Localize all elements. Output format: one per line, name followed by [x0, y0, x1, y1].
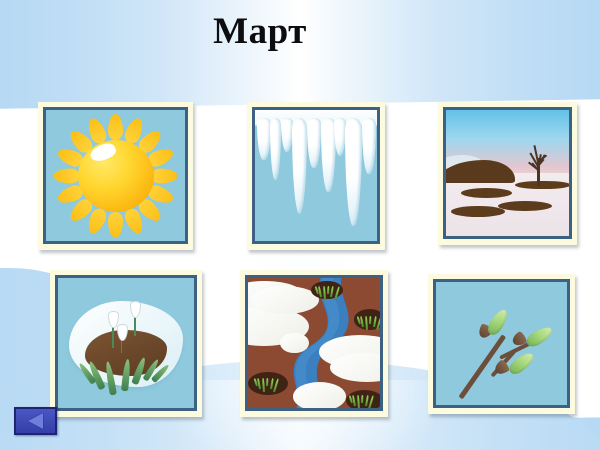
picture-frame-snowdrops[interactable]	[50, 270, 202, 417]
picture-canvas-icicles	[252, 107, 380, 244]
picture-canvas-snowdrops	[55, 275, 197, 411]
grass-blade	[323, 286, 326, 300]
artwork-icicles	[255, 110, 377, 241]
stream-snow-patch	[293, 382, 346, 408]
thaw-bare-tree-icon	[512, 140, 564, 185]
picture-canvas-thaw	[443, 107, 572, 239]
picture-frame-stream[interactable]	[240, 270, 388, 417]
page-title: Март	[0, 10, 520, 53]
picture-frame-sun[interactable]	[38, 102, 193, 250]
thaw-soil-patch	[451, 206, 505, 217]
picture-canvas-buds	[433, 279, 570, 408]
back-button[interactable]	[14, 407, 57, 435]
picture-canvas-stream	[245, 275, 383, 411]
picture-frame-buds[interactable]	[428, 274, 575, 414]
slide-march: Март	[0, 0, 600, 450]
left-arrow-icon	[28, 413, 43, 429]
artwork-spring-stream	[248, 278, 380, 408]
artwork-thaw-landscape	[446, 110, 569, 236]
thaw-soil-patch	[498, 201, 552, 211]
stream-snow-patch	[280, 333, 309, 354]
grass-blade	[327, 286, 329, 294]
artwork-sun	[46, 110, 185, 241]
artwork-tree-buds	[436, 282, 567, 405]
artwork-snowdrops	[58, 278, 194, 408]
picture-frame-thaw-landscape[interactable]	[438, 102, 577, 245]
sun-ray	[54, 168, 80, 183]
thaw-soil-ridge	[446, 160, 515, 183]
picture-canvas-sun	[43, 107, 188, 244]
picture-frame-icicles[interactable]	[247, 102, 385, 250]
